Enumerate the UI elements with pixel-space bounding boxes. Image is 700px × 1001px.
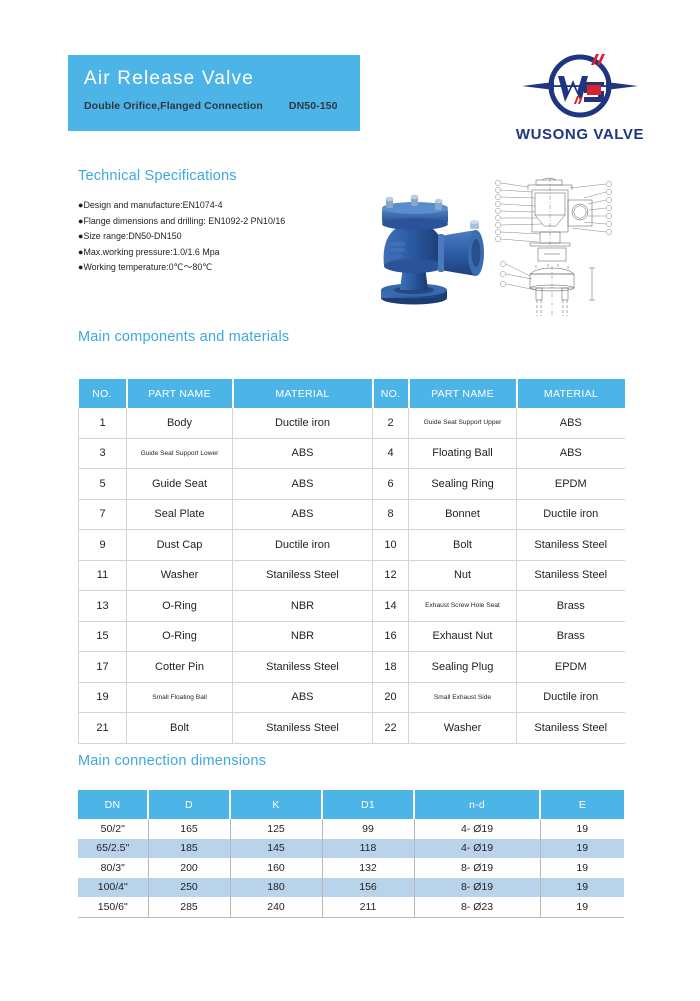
col-header-no-left: NO.: [79, 379, 127, 408]
col-header-dn: DN: [78, 790, 148, 819]
cell-partname-right: Bolt: [409, 530, 517, 561]
cell-d1: 211: [322, 897, 414, 917]
cell-k: 240: [230, 897, 322, 917]
table-row: 21BoltStaniless Steel22WasherStaniless S…: [79, 713, 625, 744]
cell-d: 200: [148, 858, 230, 878]
cell-material-left: ABS: [233, 682, 373, 713]
cell-material-right: Staniless Steel: [517, 530, 625, 561]
cell-partname-left: Guide Seat: [127, 469, 233, 500]
cell-material-right: ABS: [517, 408, 625, 438]
connection-dimensions-table: DN D K D1 n-d E 50/2"165125994- Ø191965/…: [78, 790, 624, 918]
cell-partname-left: Cotter Pin: [127, 652, 233, 683]
cell-no-right: 2: [373, 408, 409, 438]
cell-material-left: ABS: [233, 438, 373, 469]
table-row: 5Guide SeatABS6Sealing RingEPDM: [79, 469, 625, 500]
cell-no-right: 10: [373, 530, 409, 561]
cell-material-left: NBR: [233, 621, 373, 652]
cell-material-left: ABS: [233, 499, 373, 530]
cell-no-left: 5: [79, 469, 127, 500]
cell-nd: 4- Ø19: [414, 819, 540, 839]
section-heading-dimensions: Main connection dimensions: [78, 753, 266, 769]
table-row: 1BodyDuctile iron2Guide Seat Support Upp…: [79, 408, 625, 438]
cell-no-left: 17: [79, 652, 127, 683]
spec-item: ●Max.working pressure:1.0/1.6 Mpa: [78, 245, 378, 261]
cell-partname-right: Exhaust Screw Hole Seat: [409, 591, 517, 622]
cell-partname-right: Floating Ball: [409, 438, 517, 469]
cell-partname-left: O-Ring: [127, 621, 233, 652]
col-header-d1: D1: [322, 790, 414, 819]
col-header-nd: n-d: [414, 790, 540, 819]
spec-text: Design and manufacture:EN1074-4: [83, 200, 222, 210]
cell-nd: 8- Ø23: [414, 897, 540, 917]
table-header-row: DN D K D1 n-d E: [78, 790, 624, 819]
cell-dn: 65/2.5": [78, 839, 148, 859]
cell-no-right: 6: [373, 469, 409, 500]
technical-spec-list: ●Design and manufacture:EN1074-4 ●Flange…: [78, 198, 378, 276]
cell-no-right: 20: [373, 682, 409, 713]
col-header-material-left: MATERIAL: [233, 379, 373, 408]
cell-d: 165: [148, 819, 230, 839]
cell-e: 19: [540, 897, 624, 917]
col-header-partname-right: PART NAME: [409, 379, 517, 408]
cell-material-right: EPDM: [517, 652, 625, 683]
cell-no-left: 11: [79, 560, 127, 591]
cell-partname-left: Small Floating Ball: [127, 682, 233, 713]
cell-e: 19: [540, 858, 624, 878]
company-logo: WUSONG VALVE: [484, 52, 676, 152]
cell-material-right: ABS: [517, 438, 625, 469]
table-row: 3Guide Seat Support LowerABS4Floating Ba…: [79, 438, 625, 469]
cell-e: 19: [540, 839, 624, 859]
product-subtitle: Double Orifice,Flanged Connection: [84, 100, 263, 112]
cell-material-right: Ductile iron: [517, 499, 625, 530]
cell-dn: 100/4": [78, 878, 148, 898]
assembly-section-drawing: [492, 176, 612, 248]
cell-material-right: Brass: [517, 621, 625, 652]
brand-name: WUSONG VALVE: [484, 126, 676, 143]
cell-d1: 156: [322, 878, 414, 898]
cell-no-left: 3: [79, 438, 127, 469]
col-header-d: D: [148, 790, 230, 819]
cell-partname-right: Nut: [409, 560, 517, 591]
spec-text: Size range:DN50-DN150: [83, 231, 181, 241]
table-row: 13O-RingNBR14Exhaust Screw Hole SeatBras…: [79, 591, 625, 622]
cell-d1: 118: [322, 839, 414, 859]
cell-partname-left: O-Ring: [127, 591, 233, 622]
cell-material-left: Ductile iron: [233, 408, 373, 438]
table-row: 11WasherStaniless Steel12NutStaniless St…: [79, 560, 625, 591]
col-header-no-right: NO.: [373, 379, 409, 408]
col-header-e: E: [540, 790, 624, 819]
cell-d: 285: [148, 897, 230, 917]
cell-no-left: 13: [79, 591, 127, 622]
cell-material-right: Staniless Steel: [517, 713, 625, 744]
cell-nd: 4- Ø19: [414, 839, 540, 859]
cell-e: 19: [540, 878, 624, 898]
cell-partname-left: Dust Cap: [127, 530, 233, 561]
cell-k: 160: [230, 858, 322, 878]
cell-no-left: 7: [79, 499, 127, 530]
cell-no-left: 21: [79, 713, 127, 744]
spec-text: Flange dimensions and drilling: EN1092-2…: [83, 216, 285, 226]
product-title-band: Air Release Valve Double Orifice,Flanged…: [68, 55, 360, 131]
section-heading-components: Main components and materials: [78, 329, 289, 345]
cell-d1: 132: [322, 858, 414, 878]
table-row: 19Small Floating BallABS20Small Exhaust …: [79, 682, 625, 713]
cell-no-right: 4: [373, 438, 409, 469]
cell-partname-left: Washer: [127, 560, 233, 591]
cell-k: 145: [230, 839, 322, 859]
table-row: 50/2"165125994- Ø1919: [78, 819, 624, 839]
cell-partname-right: Guide Seat Support Upper: [409, 408, 517, 438]
cell-dn: 150/6": [78, 897, 148, 917]
cell-k: 180: [230, 878, 322, 898]
product-size-range: DN50-150: [289, 100, 338, 112]
product-photo-air-release-valve: [372, 182, 504, 308]
cell-material-right: Staniless Steel: [517, 560, 625, 591]
cell-no-left: 15: [79, 621, 127, 652]
spec-item: ●Design and manufacture:EN1074-4: [78, 198, 378, 214]
spec-item: ●Flange dimensions and drilling: EN1092-…: [78, 214, 378, 230]
cell-nd: 8- Ø19: [414, 878, 540, 898]
cell-material-left: Ductile iron: [233, 530, 373, 561]
col-header-material-right: MATERIAL: [517, 379, 625, 408]
cell-material-right: Brass: [517, 591, 625, 622]
spec-item: ●Size range:DN50-DN150: [78, 229, 378, 245]
cell-e: 19: [540, 819, 624, 839]
cell-no-right: 12: [373, 560, 409, 591]
cell-partname-right: Bonnet: [409, 499, 517, 530]
table-row: 9Dust CapDuctile iron10BoltStaniless Ste…: [79, 530, 625, 561]
cell-partname-right: Sealing Ring: [409, 469, 517, 500]
cell-material-right: Ductile iron: [517, 682, 625, 713]
cell-material-left: Staniless Steel: [233, 713, 373, 744]
cell-d: 250: [148, 878, 230, 898]
table-row: 150/6"2852402118- Ø2319: [78, 897, 624, 917]
cell-material-left: ABS: [233, 469, 373, 500]
spec-item: ●Working temperature:0℃～80℃: [78, 260, 378, 276]
cell-partname-right: Small Exhaust Side: [409, 682, 517, 713]
table-header-row: NO. PART NAME MATERIAL NO. PART NAME MAT…: [79, 379, 625, 408]
cell-partname-right: Sealing Plug: [409, 652, 517, 683]
col-header-partname-left: PART NAME: [127, 379, 233, 408]
cell-partname-left: Body: [127, 408, 233, 438]
table-row: 80/3"2001601328- Ø1919: [78, 858, 624, 878]
cell-d: 185: [148, 839, 230, 859]
col-header-k: K: [230, 790, 322, 819]
table-row: 17Cotter PinStaniless Steel18Sealing Plu…: [79, 652, 625, 683]
cell-no-right: 16: [373, 621, 409, 652]
cell-material-right: EPDM: [517, 469, 625, 500]
datasheet-page: Air Release Valve Double Orifice,Flanged…: [0, 0, 700, 1001]
cell-no-right: 18: [373, 652, 409, 683]
cell-dn: 50/2": [78, 819, 148, 839]
cell-material-left: Staniless Steel: [233, 652, 373, 683]
page-title: Air Release Valve: [84, 67, 344, 91]
table-row: 100/4"2501801568- Ø1919: [78, 878, 624, 898]
cell-no-right: 8: [373, 499, 409, 530]
cell-no-right: 14: [373, 591, 409, 622]
cell-d1: 99: [322, 819, 414, 839]
cell-dn: 80/3": [78, 858, 148, 878]
cell-partname-right: Exhaust Nut: [409, 621, 517, 652]
cell-no-left: 9: [79, 530, 127, 561]
cell-no-left: 1: [79, 408, 127, 438]
cell-nd: 8- Ø19: [414, 858, 540, 878]
cell-partname-left: Bolt: [127, 713, 233, 744]
cell-no-right: 22: [373, 713, 409, 744]
cell-material-left: Staniless Steel: [233, 560, 373, 591]
spec-text: Max.working pressure:1.0/1.6 Mpa: [83, 247, 219, 257]
table-row: 7Seal PlateABS8BonnetDuctile iron: [79, 499, 625, 530]
dimension-outline-drawing: [496, 246, 608, 318]
cell-partname-right: Washer: [409, 713, 517, 744]
table-row: 65/2.5"1851451184- Ø1919: [78, 839, 624, 859]
cell-k: 125: [230, 819, 322, 839]
table-row: 15O-RingNBR16Exhaust NutBrass: [79, 621, 625, 652]
wusong-logo-icon: [520, 52, 640, 124]
components-materials-table: NO. PART NAME MATERIAL NO. PART NAME MAT…: [78, 379, 625, 744]
cell-partname-left: Seal Plate: [127, 499, 233, 530]
cell-material-left: NBR: [233, 591, 373, 622]
spec-text: Working temperature:0℃～80℃: [83, 262, 212, 272]
cell-partname-left: Guide Seat Support Lower: [127, 438, 233, 469]
cell-no-left: 19: [79, 682, 127, 713]
section-heading-technical: Technical Specifications: [78, 168, 237, 184]
